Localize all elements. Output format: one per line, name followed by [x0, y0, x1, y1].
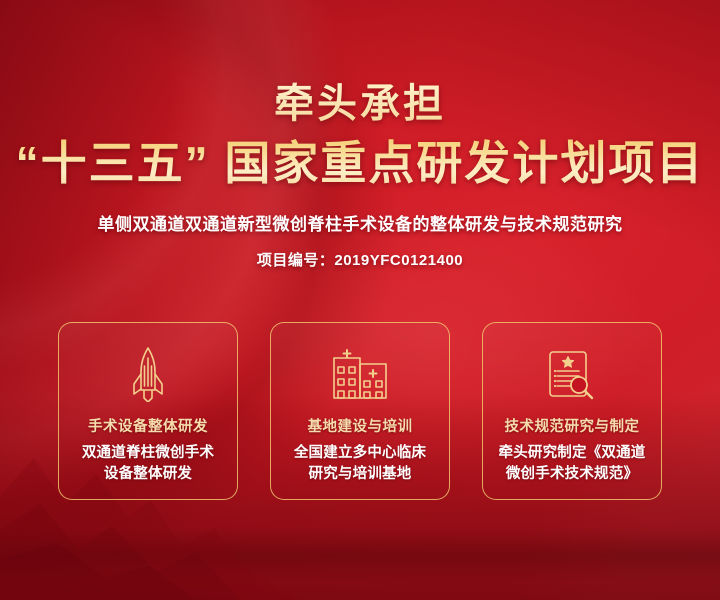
project-number: 项目编号：2019YFC0121400 [0, 249, 720, 270]
card-title: 手术设备整体研发 [88, 415, 208, 436]
card-body: 双通道脊柱微创手术 设备整体研发 [64, 443, 232, 485]
feature-card-base-training[interactable]: 基地建设与培训 全国建立多中心临床 研究与培训基地 [270, 322, 450, 500]
feature-card-equipment-rnd[interactable]: 手术设备整体研发 双通道脊柱微创手术 设备整体研发 [58, 322, 238, 500]
rocket-icon [128, 345, 168, 403]
poster-title-line-2: “十三五” 国家重点研发计划项目 [0, 128, 720, 192]
card-title: 技术规范研究与制定 [505, 415, 640, 436]
hospital-building-icon [333, 345, 387, 403]
card-title: 基地建设与培训 [308, 415, 413, 436]
certificate-magnifier-icon [546, 345, 598, 403]
card-body-line: 研究与培训基地 [276, 464, 444, 485]
card-body: 牵头研究制定《双通道 微创手术技术规范》 [488, 443, 656, 485]
poster-subtitle: 单侧双通道双通道新型微创脊柱手术设备的整体研发与技术规范研究 [0, 210, 720, 235]
poster-canvas: 牵头承担 “十三五” 国家重点研发计划项目 单侧双通道双通道新型微创脊柱手术设备… [0, 0, 720, 600]
feature-card-technical-standard[interactable]: 技术规范研究与制定 牵头研究制定《双通道 微创手术技术规范》 [482, 322, 662, 500]
poster-header: 牵头承担 “十三五” 国家重点研发计划项目 单侧双通道双通道新型微创脊柱手术设备… [0, 0, 720, 270]
card-body-line: 设备整体研发 [64, 464, 232, 485]
card-body: 全国建立多中心临床 研究与培训基地 [276, 443, 444, 485]
card-body-line: 牵头研究制定《双通道 [488, 443, 656, 464]
card-body-line: 微创手术技术规范》 [488, 464, 656, 485]
card-body-line: 全国建立多中心临床 [276, 443, 444, 464]
feature-card-list: 手术设备整体研发 双通道脊柱微创手术 设备整体研发 [58, 322, 662, 500]
poster-title-line-1: 牵头承担 [0, 0, 720, 128]
card-body-line: 双通道脊柱微创手术 [64, 443, 232, 464]
